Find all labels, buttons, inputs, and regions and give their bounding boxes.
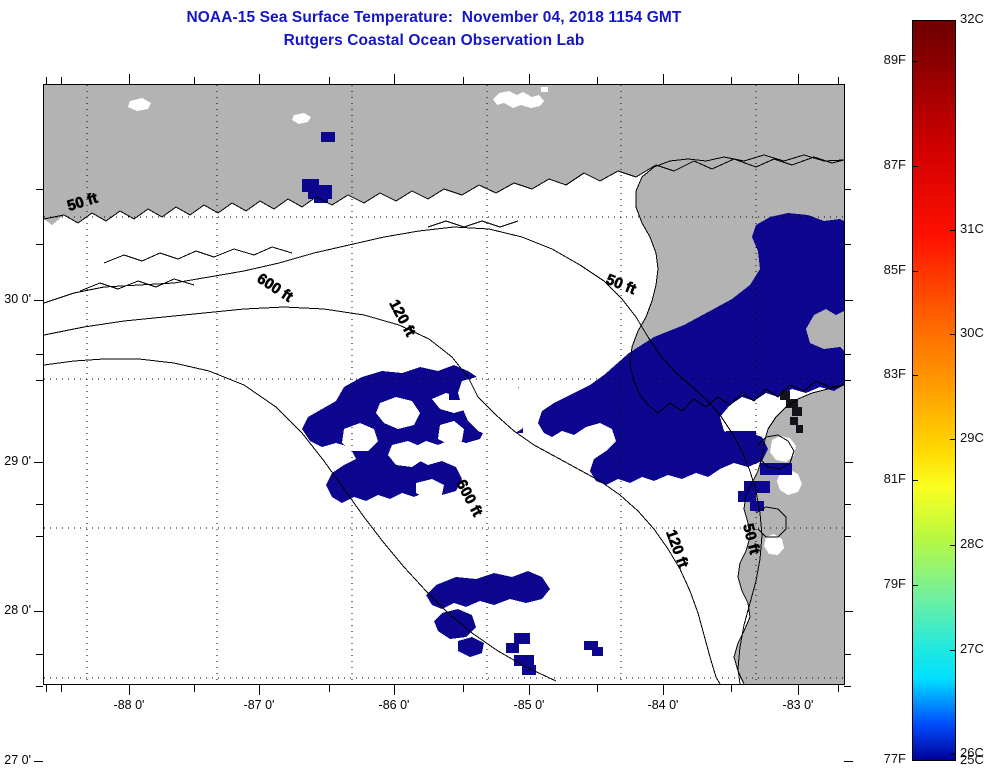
y-axis-right-minor-tick: [844, 504, 851, 505]
colorbar-tick-celsius: [950, 439, 956, 440]
y-axis-right-minor-tick: [844, 380, 851, 381]
y-axis-label: 28 0': [0, 603, 31, 617]
x-axis-major-tick: [529, 685, 530, 695]
map-plot-frame: 50 ft 600 ft 120 ft 50 ft 600 ft 120 ft …: [43, 84, 845, 685]
y-axis-label: 29 0': [0, 454, 31, 468]
x-axis-top-minor-tick: [597, 77, 598, 84]
colorbar-tick-celsius: [950, 334, 956, 335]
y-axis-right-tick: [844, 300, 853, 301]
colorbar-label-celsius: 29C: [960, 430, 984, 445]
x-axis-minor-tick: [46, 685, 47, 692]
colorbar-label-fahrenheit: 79F: [854, 576, 906, 591]
colorbar-label-celsius: 31C: [960, 221, 984, 236]
sst-map: 50 ft 600 ft 120 ft 50 ft 600 ft 120 ft …: [44, 85, 844, 684]
colorbar-label-celsius: 28C: [960, 536, 984, 551]
y-axis-minor-tick: [36, 536, 43, 537]
y-axis-label: 30 0': [0, 292, 31, 306]
x-axis-label: -88 0': [89, 698, 169, 712]
x-axis-top-tick: [663, 74, 664, 84]
x-axis-top-minor-tick: [838, 77, 839, 84]
colorbar-tick-celsius: [950, 230, 956, 231]
colorbar-tick-celsius: [950, 650, 956, 651]
y-axis-right-minor-tick: [844, 354, 851, 355]
x-axis-top-tick: [129, 74, 130, 84]
x-axis-minor-tick: [61, 685, 62, 692]
x-axis-major-tick: [259, 685, 260, 695]
colorbar-label-fahrenheit: 83F: [854, 366, 906, 381]
y-axis-right-tick: [844, 611, 853, 612]
title-block: NOAA-15 Sea Surface Temperature: Novembe…: [0, 6, 868, 52]
x-axis-label: -85 0': [489, 698, 569, 712]
colorbar-label-fahrenheit: 81F: [854, 471, 906, 486]
y-axis-minor-tick: [36, 686, 43, 687]
colorbar-tick-fahrenheit: [912, 585, 918, 586]
x-axis-top-tick: [394, 74, 395, 84]
x-axis-label: -83 0': [758, 698, 838, 712]
x-axis-top-minor-tick: [731, 77, 732, 84]
colorbar-label-fahrenheit: 87F: [854, 157, 906, 172]
colorbar-tick-fahrenheit: [912, 375, 918, 376]
y-axis-minor-tick: [36, 354, 43, 355]
y-axis-right-minor-tick: [844, 244, 851, 245]
x-axis-minor-tick: [731, 685, 732, 692]
x-axis-top-tick: [259, 74, 260, 84]
x-axis-top-minor-tick: [46, 77, 47, 84]
y-axis-minor-tick: [36, 380, 43, 381]
y-axis-right-tick: [844, 462, 853, 463]
x-axis-minor-tick: [838, 685, 839, 692]
colorbar-tick-celsius: [950, 545, 956, 546]
y-axis-major-tick: [34, 611, 43, 612]
y-axis-right-tick: [844, 761, 853, 762]
colorbar-label-celsius: 27C: [960, 641, 984, 656]
x-axis-top-minor-tick: [329, 77, 330, 84]
colorbar-label-fahrenheit: 77F: [854, 751, 906, 766]
y-axis-major-tick: [34, 761, 43, 762]
x-axis-top-minor-tick: [61, 77, 62, 84]
page-title: NOAA-15 Sea Surface Temperature: Novembe…: [0, 6, 868, 29]
colorbar-label-min-celsius: 25C: [960, 752, 984, 767]
colorbar-label-fahrenheit: 89F: [854, 52, 906, 67]
x-axis-top-minor-tick: [194, 77, 195, 84]
colorbar-tick-fahrenheit: [912, 61, 918, 62]
colorbar-tick-celsius: [950, 20, 956, 21]
x-axis-top-tick: [798, 74, 799, 84]
colorbar-legend: 32C31C30C29C28C27C26C89F87F85F83F81F79F7…: [912, 20, 956, 761]
x-axis-major-tick: [394, 685, 395, 695]
y-axis-label: 27 0': [0, 753, 31, 767]
y-axis-major-tick: [34, 462, 43, 463]
x-axis-label: -87 0': [219, 698, 299, 712]
y-axis-right-minor-tick: [844, 686, 851, 687]
x-axis-minor-tick: [194, 685, 195, 692]
y-axis-right-minor-tick: [844, 654, 851, 655]
x-axis-top-minor-tick: [463, 77, 464, 84]
y-axis-minor-tick: [36, 189, 43, 190]
colorbar-label-celsius: 30C: [960, 325, 984, 340]
x-axis-major-tick: [129, 685, 130, 695]
y-axis-minor-tick: [36, 244, 43, 245]
x-axis-label: -84 0': [623, 698, 703, 712]
y-axis-right-minor-tick: [844, 536, 851, 537]
colorbar-label-celsius: 32C: [960, 11, 984, 26]
colorbar-tick-fahrenheit: [912, 760, 918, 761]
y-axis-minor-tick: [36, 654, 43, 655]
y-axis-minor-tick: [36, 504, 43, 505]
x-axis-minor-tick: [463, 685, 464, 692]
colorbar-tick-fahrenheit: [912, 480, 918, 481]
colorbar-tick-celsius: [950, 754, 956, 755]
colorbar-tick-fahrenheit: [912, 166, 918, 167]
x-axis-major-tick: [798, 685, 799, 695]
y-axis-major-tick: [34, 300, 43, 301]
page-subtitle: Rutgers Coastal Ocean Observation Lab: [0, 29, 868, 52]
x-axis-minor-tick: [329, 685, 330, 692]
x-axis-label: -86 0': [354, 698, 434, 712]
colorbar-tick-fahrenheit: [912, 271, 918, 272]
x-axis-major-tick: [663, 685, 664, 695]
colorbar-label-fahrenheit: 85F: [854, 262, 906, 277]
x-axis-top-tick: [529, 74, 530, 84]
x-axis-minor-tick: [597, 685, 598, 692]
y-axis-right-minor-tick: [844, 189, 851, 190]
